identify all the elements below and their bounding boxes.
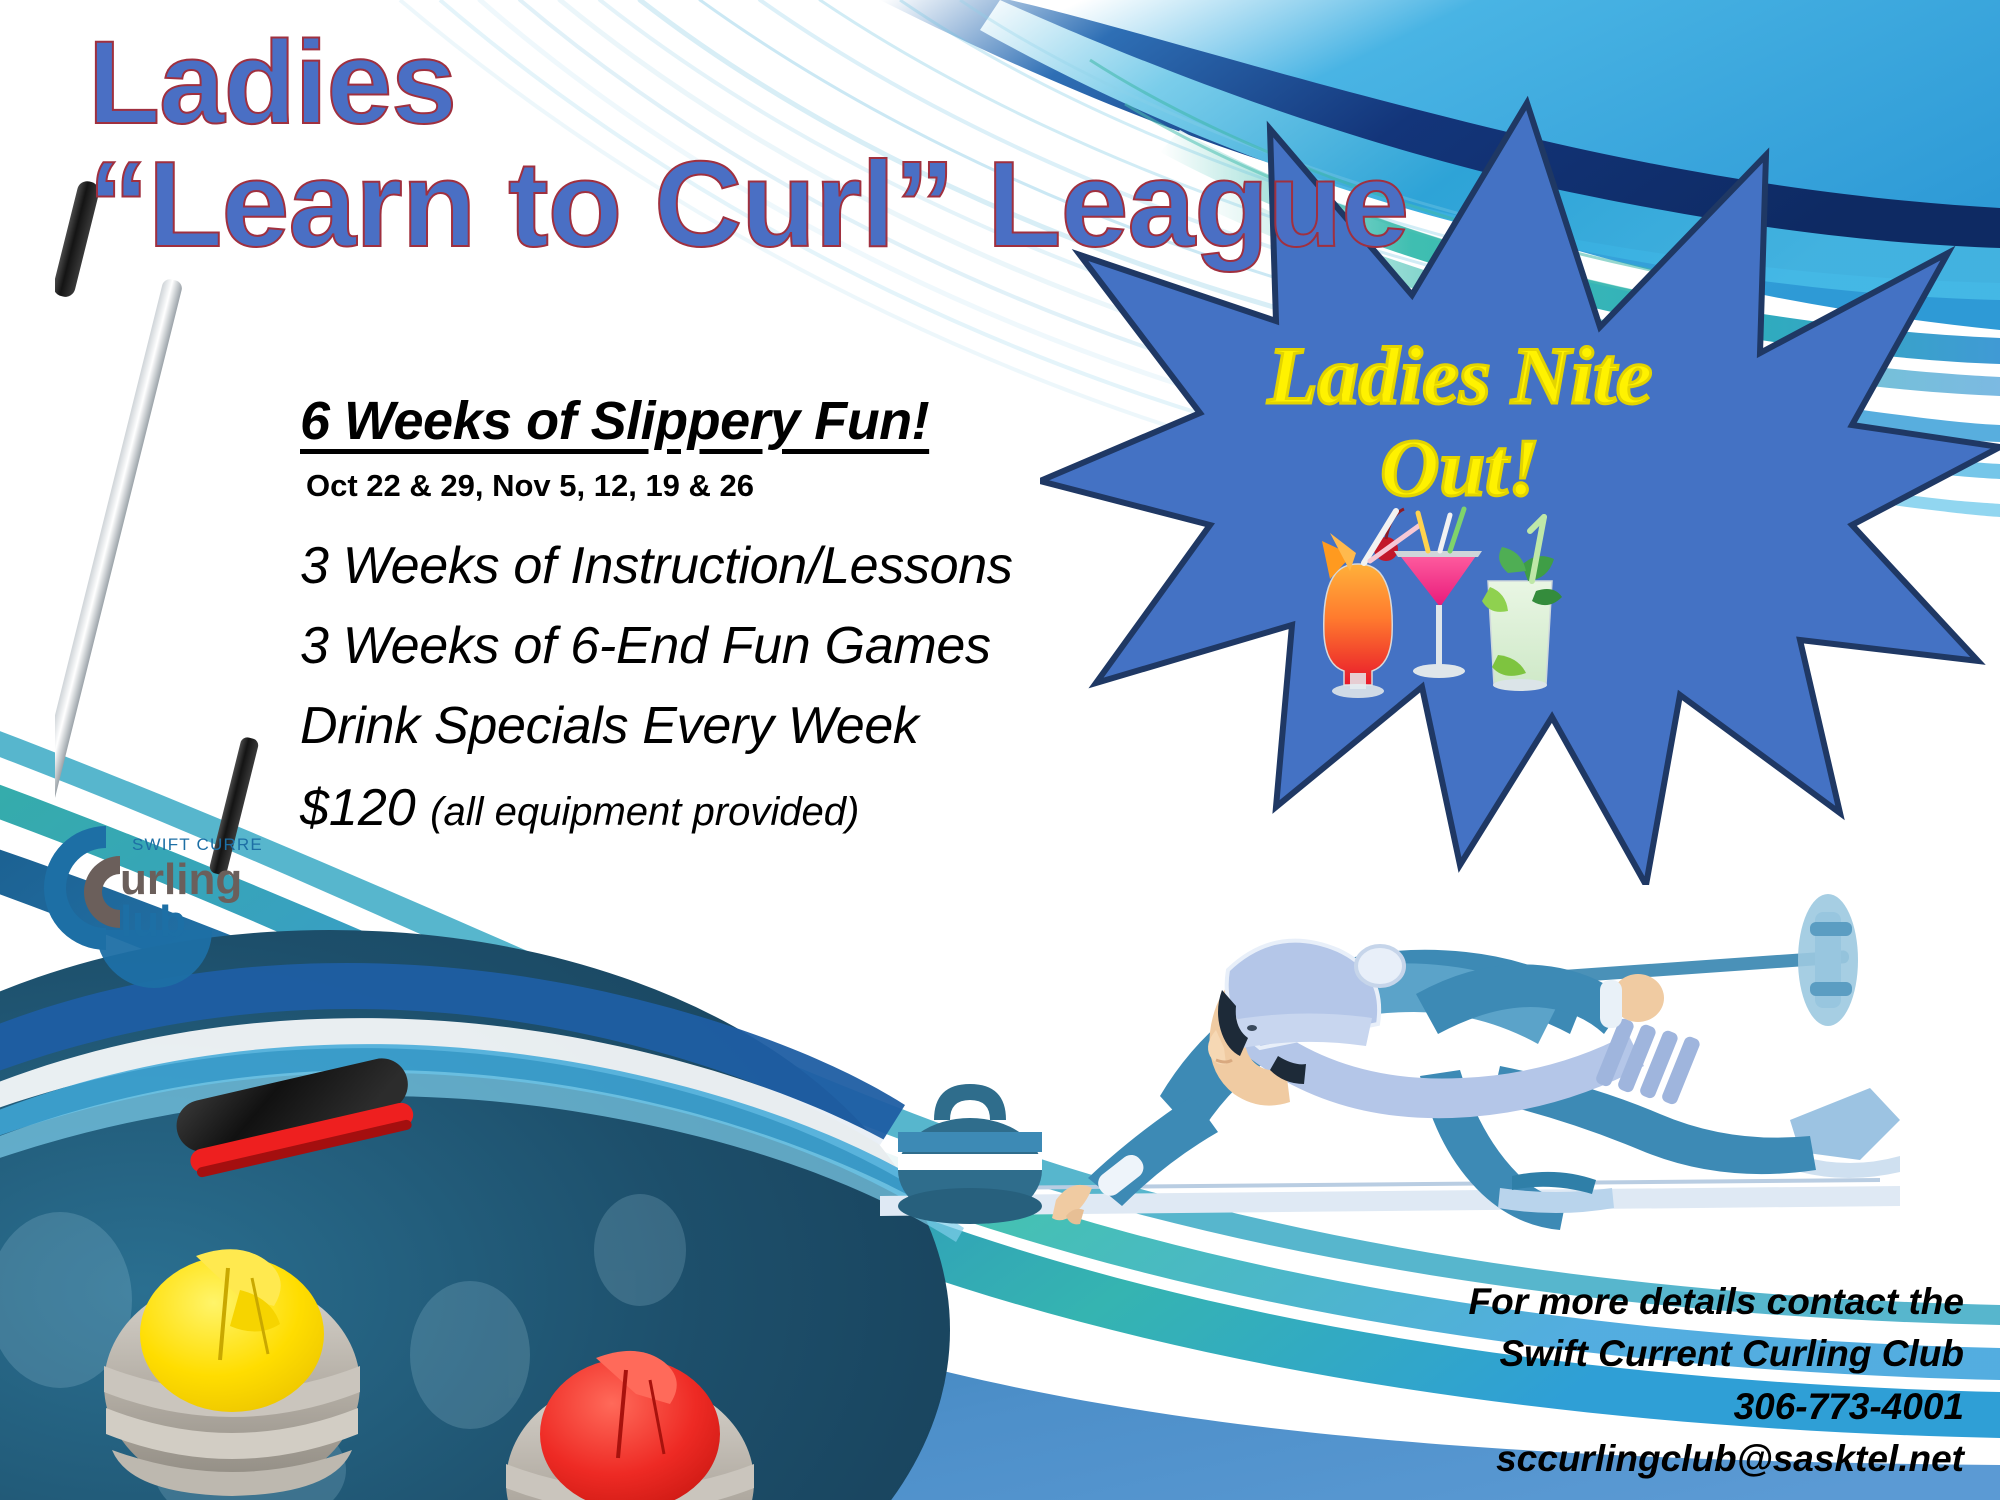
poster-canvas: Ladies “Learn to Curl” League 6 Weeks of… [0, 0, 2000, 1500]
yellow-curling-stone [104, 1249, 360, 1496]
contact-email[interactable]: sccurlingclub@sasktel.net [1224, 1433, 1964, 1486]
contact-phone[interactable]: 306-773-4001 [1224, 1381, 1964, 1434]
stones-and-broom-head [0, 930, 900, 1500]
cocktails-illustration [1300, 495, 1630, 725]
poster-title: Ladies “Learn to Curl” League [88, 22, 1168, 268]
details-dates: Oct 22 & 29, Nov 5, 12, 19 & 26 [306, 468, 1200, 504]
details-bullet-3: Drink Specials Every Week [300, 696, 1200, 756]
contact-line-1: For more details contact the [1224, 1276, 1964, 1329]
details-price-note: (all equipment provided) [430, 790, 859, 834]
curler-illustration [860, 870, 1920, 1230]
logo-top-text: SWIFT CURRENT [132, 835, 264, 854]
logo-word-club: lub [120, 897, 186, 946]
hurricane-cocktail [1322, 509, 1420, 698]
contact-block: For more details contact the Swift Curre… [1224, 1276, 1964, 1486]
swift-current-curling-club-logo: SWIFT CURRENT urling lub [14, 812, 264, 962]
mojito-cocktail [1482, 517, 1562, 691]
curling-stone-icon [898, 1084, 1042, 1224]
details-block: 6 Weeks of Slippery Fun! Oct 22 & 29, No… [300, 390, 1200, 838]
title-line-2: “Learn to Curl” League [88, 141, 1168, 268]
details-price-line: $120 (all equipment provided) [300, 778, 1200, 838]
details-bullet-1: 3 Weeks of Instruction/Lessons [300, 536, 1200, 596]
title-line-1: Ladies [88, 22, 1168, 145]
broom-head-icon [171, 1053, 418, 1180]
contact-club-name: Swift Current Curling Club [1224, 1328, 1964, 1381]
details-headline: 6 Weeks of Slippery Fun! [300, 390, 1200, 452]
red-curling-stone [506, 1351, 754, 1500]
details-bullet-2: 3 Weeks of 6-End Fun Games [300, 616, 1200, 676]
details-price: $120 [300, 779, 416, 837]
